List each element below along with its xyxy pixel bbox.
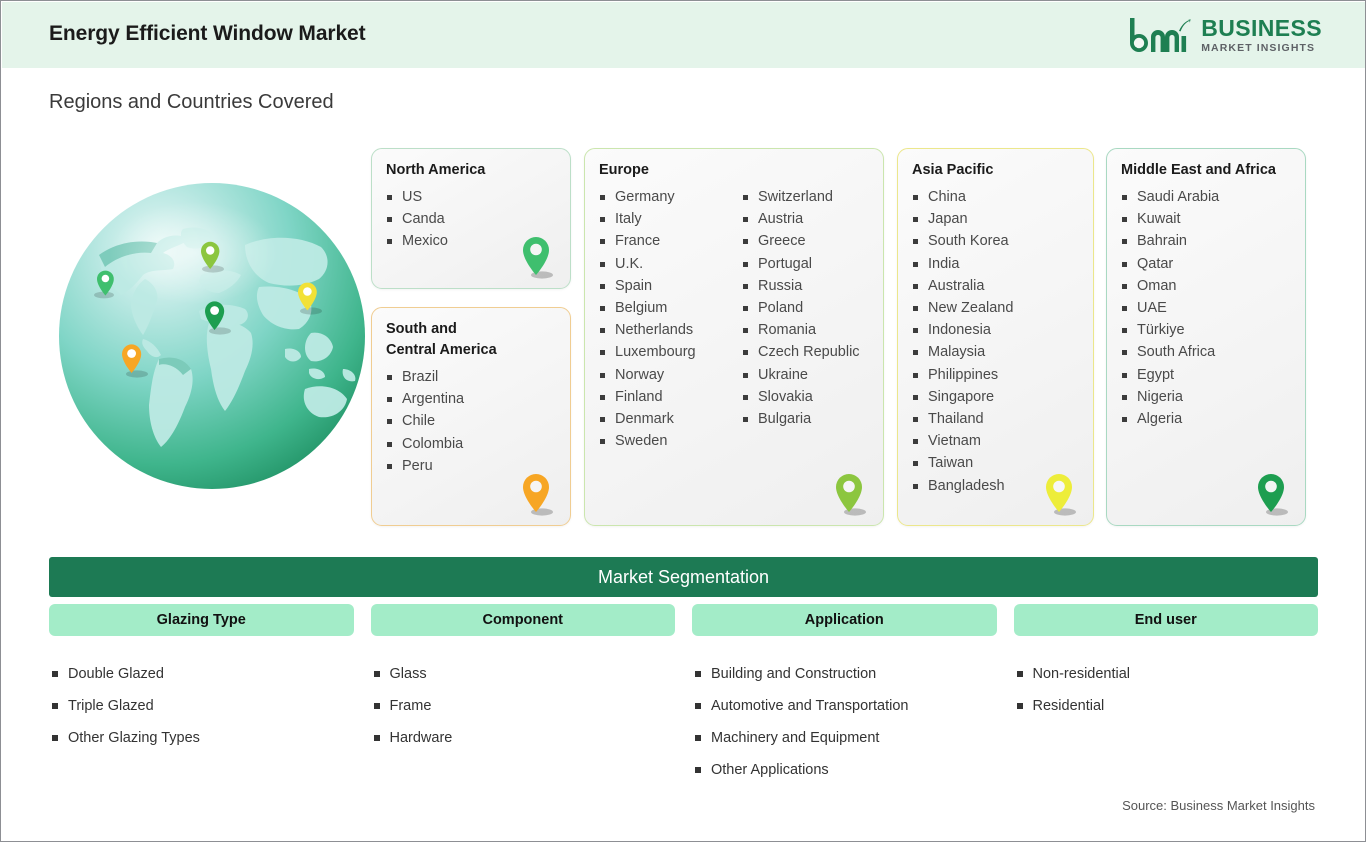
country-item: Bahrain [1121, 230, 1219, 252]
country-item: UAE [1121, 297, 1219, 319]
source-attribution: Source: Business Market Insights [1122, 798, 1315, 813]
region-title-line1: South and [386, 321, 457, 337]
country-item: Czech Republic [742, 341, 860, 363]
country-item: Belgium [599, 297, 742, 319]
country-item: Oman [1121, 275, 1219, 297]
country-item: Romania [742, 319, 860, 341]
map-pin-icon-south-central-america [518, 471, 556, 517]
segment-item: Building and Construction [692, 658, 997, 690]
segment-item: Hardware [371, 722, 676, 754]
region-title-europe: Europe [599, 160, 869, 181]
country-item: South Africa [1121, 341, 1219, 363]
country-item: Poland [742, 297, 860, 319]
country-item: India [912, 253, 1013, 275]
country-item: Brazil [386, 366, 464, 388]
brand-logo-text: BUSINESS MARKET INSIGHTS [1201, 17, 1322, 54]
country-item: Netherlands [599, 319, 742, 341]
market-segmentation-columns: Glazing Type Double Glazed Triple Glazed… [49, 604, 1318, 786]
segmentation-column-component: Component Glass Frame Hardware [371, 604, 676, 786]
globe-sphere [59, 183, 365, 489]
segmentation-column-glazing-type: Glazing Type Double Glazed Triple Glazed… [49, 604, 354, 786]
segmentation-header-component[interactable]: Component [371, 604, 676, 636]
segment-item: Residential [1014, 690, 1319, 722]
region-card-europe[interactable]: Europe Germany Italy France U.K. Spain B… [584, 148, 884, 526]
region-title-line2: Central America [386, 342, 497, 358]
country-item: Qatar [1121, 253, 1219, 275]
country-item: Ukraine [742, 364, 860, 386]
region-country-list-asia-pacific: China Japan South Korea India Australia … [912, 186, 1013, 497]
country-item: Chile [386, 410, 464, 432]
country-item: Argentina [386, 388, 464, 410]
segment-item: Machinery and Equipment [692, 722, 997, 754]
market-segmentation-title: Market Segmentation [598, 567, 769, 588]
segmentation-column-application: Application Building and Construction Au… [692, 604, 997, 786]
country-item: South Korea [912, 230, 1013, 252]
segment-item: Non-residential [1014, 658, 1319, 690]
region-card-middle-east-africa[interactable]: Middle East and Africa Saudi Arabia Kuwa… [1106, 148, 1306, 526]
region-card-south-central-america[interactable]: South and Central America Brazil Argenti… [371, 307, 571, 526]
country-item: Singapore [912, 386, 1013, 408]
country-item: Norway [599, 364, 742, 386]
region-country-list-south-central-america: Brazil Argentina Chile Colombia Peru [386, 366, 464, 477]
country-item: Greece [742, 230, 860, 252]
segment-item: Double Glazed [49, 658, 354, 690]
country-item: Portugal [742, 253, 860, 275]
country-item: Algeria [1121, 408, 1219, 430]
segmentation-header-application[interactable]: Application [692, 604, 997, 636]
country-item: New Zealand [912, 297, 1013, 319]
country-item: Canda [386, 208, 448, 230]
map-pin-icon-europe [831, 471, 869, 517]
country-item: Colombia [386, 433, 464, 455]
page-header: Energy Efficient Window Market BUSINESS [2, 2, 1366, 68]
segmentation-header-glazing-type[interactable]: Glazing Type [49, 604, 354, 636]
region-country-list-middle-east-africa: Saudi Arabia Kuwait Bahrain Qatar Oman U… [1121, 186, 1219, 430]
country-item: Bulgaria [742, 408, 860, 430]
segmentation-header-end-user[interactable]: End user [1014, 604, 1319, 636]
country-item: Malaysia [912, 341, 1013, 363]
country-item: Denmark [599, 408, 742, 430]
region-country-list-europe-col1: Germany Italy France U.K. Spain Belgium … [599, 186, 742, 452]
country-item: Slovakia [742, 386, 860, 408]
segment-item: Automotive and Transportation [692, 690, 997, 722]
country-item: Philippines [912, 364, 1013, 386]
region-title-asia-pacific: Asia Pacific [912, 160, 1079, 181]
segment-item: Other Glazing Types [49, 722, 354, 754]
country-item: Austria [742, 208, 860, 230]
segment-item: Triple Glazed [49, 690, 354, 722]
country-item: Bangladesh [912, 475, 1013, 497]
brand-logo: BUSINESS MARKET INSIGHTS [1126, 12, 1322, 58]
segmentation-list-component: Glass Frame Hardware [371, 658, 676, 754]
country-item: Switzerland [742, 186, 860, 208]
region-card-north-america[interactable]: North America US Canda Mexico [371, 148, 571, 289]
country-item: Taiwan [912, 452, 1013, 474]
country-item: Sweden [599, 430, 742, 452]
segmentation-list-application: Building and Construction Automotive and… [692, 658, 997, 786]
country-item: Thailand [912, 408, 1013, 430]
globe-landmasses [59, 183, 365, 489]
region-country-list-europe-col2: Switzerland Austria Greece Portugal Russ… [742, 186, 860, 452]
page-title: Energy Efficient Window Market [49, 22, 366, 46]
segmentation-list-glazing-type: Double Glazed Triple Glazed Other Glazin… [49, 658, 354, 754]
region-card-asia-pacific[interactable]: Asia Pacific China Japan South Korea Ind… [897, 148, 1094, 526]
market-segmentation-bar: Market Segmentation [49, 557, 1318, 597]
segment-item: Other Applications [692, 754, 997, 786]
world-globe-illustration [59, 183, 365, 489]
country-item: Nigeria [1121, 386, 1219, 408]
country-item: France [599, 230, 742, 252]
map-pin-icon-asia-pacific [1041, 471, 1079, 517]
infographic-page: Energy Efficient Window Market BUSINESS [0, 0, 1366, 842]
brand-name-line1: BUSINESS [1201, 17, 1322, 40]
country-item: Vietnam [912, 430, 1013, 452]
bmi-logo-icon [1126, 15, 1192, 55]
country-item: Peru [386, 455, 464, 477]
country-item: Kuwait [1121, 208, 1219, 230]
country-item: Saudi Arabia [1121, 186, 1219, 208]
section-heading: Regions and Countries Covered [49, 91, 334, 114]
segmentation-list-end-user: Non-residential Residential [1014, 658, 1319, 722]
country-item: US [386, 186, 448, 208]
segment-item: Frame [371, 690, 676, 722]
country-item: Germany [599, 186, 742, 208]
map-pin-icon-middle-east-africa [1253, 471, 1291, 517]
country-item: Australia [912, 275, 1013, 297]
country-item: Egypt [1121, 364, 1219, 386]
country-item: China [912, 186, 1013, 208]
country-item: Finland [599, 386, 742, 408]
country-item: Spain [599, 275, 742, 297]
country-item: Italy [599, 208, 742, 230]
country-item: Mexico [386, 230, 448, 252]
country-item: Japan [912, 208, 1013, 230]
segmentation-column-end-user: End user Non-residential Residential [1014, 604, 1319, 786]
region-title-south-central-america: South and Central America [386, 319, 556, 361]
country-item: Luxembourg [599, 341, 742, 363]
region-title-north-america: North America [386, 160, 556, 181]
segment-item: Glass [371, 658, 676, 690]
country-item: Türkiye [1121, 319, 1219, 341]
country-item: Russia [742, 275, 860, 297]
region-country-list-north-america: US Canda Mexico [386, 186, 448, 253]
country-item: Indonesia [912, 319, 1013, 341]
map-pin-icon-north-america [518, 234, 556, 280]
brand-name-line2: MARKET INSIGHTS [1201, 43, 1322, 54]
region-title-middle-east-africa: Middle East and Africa [1121, 160, 1291, 181]
country-item: U.K. [599, 253, 742, 275]
